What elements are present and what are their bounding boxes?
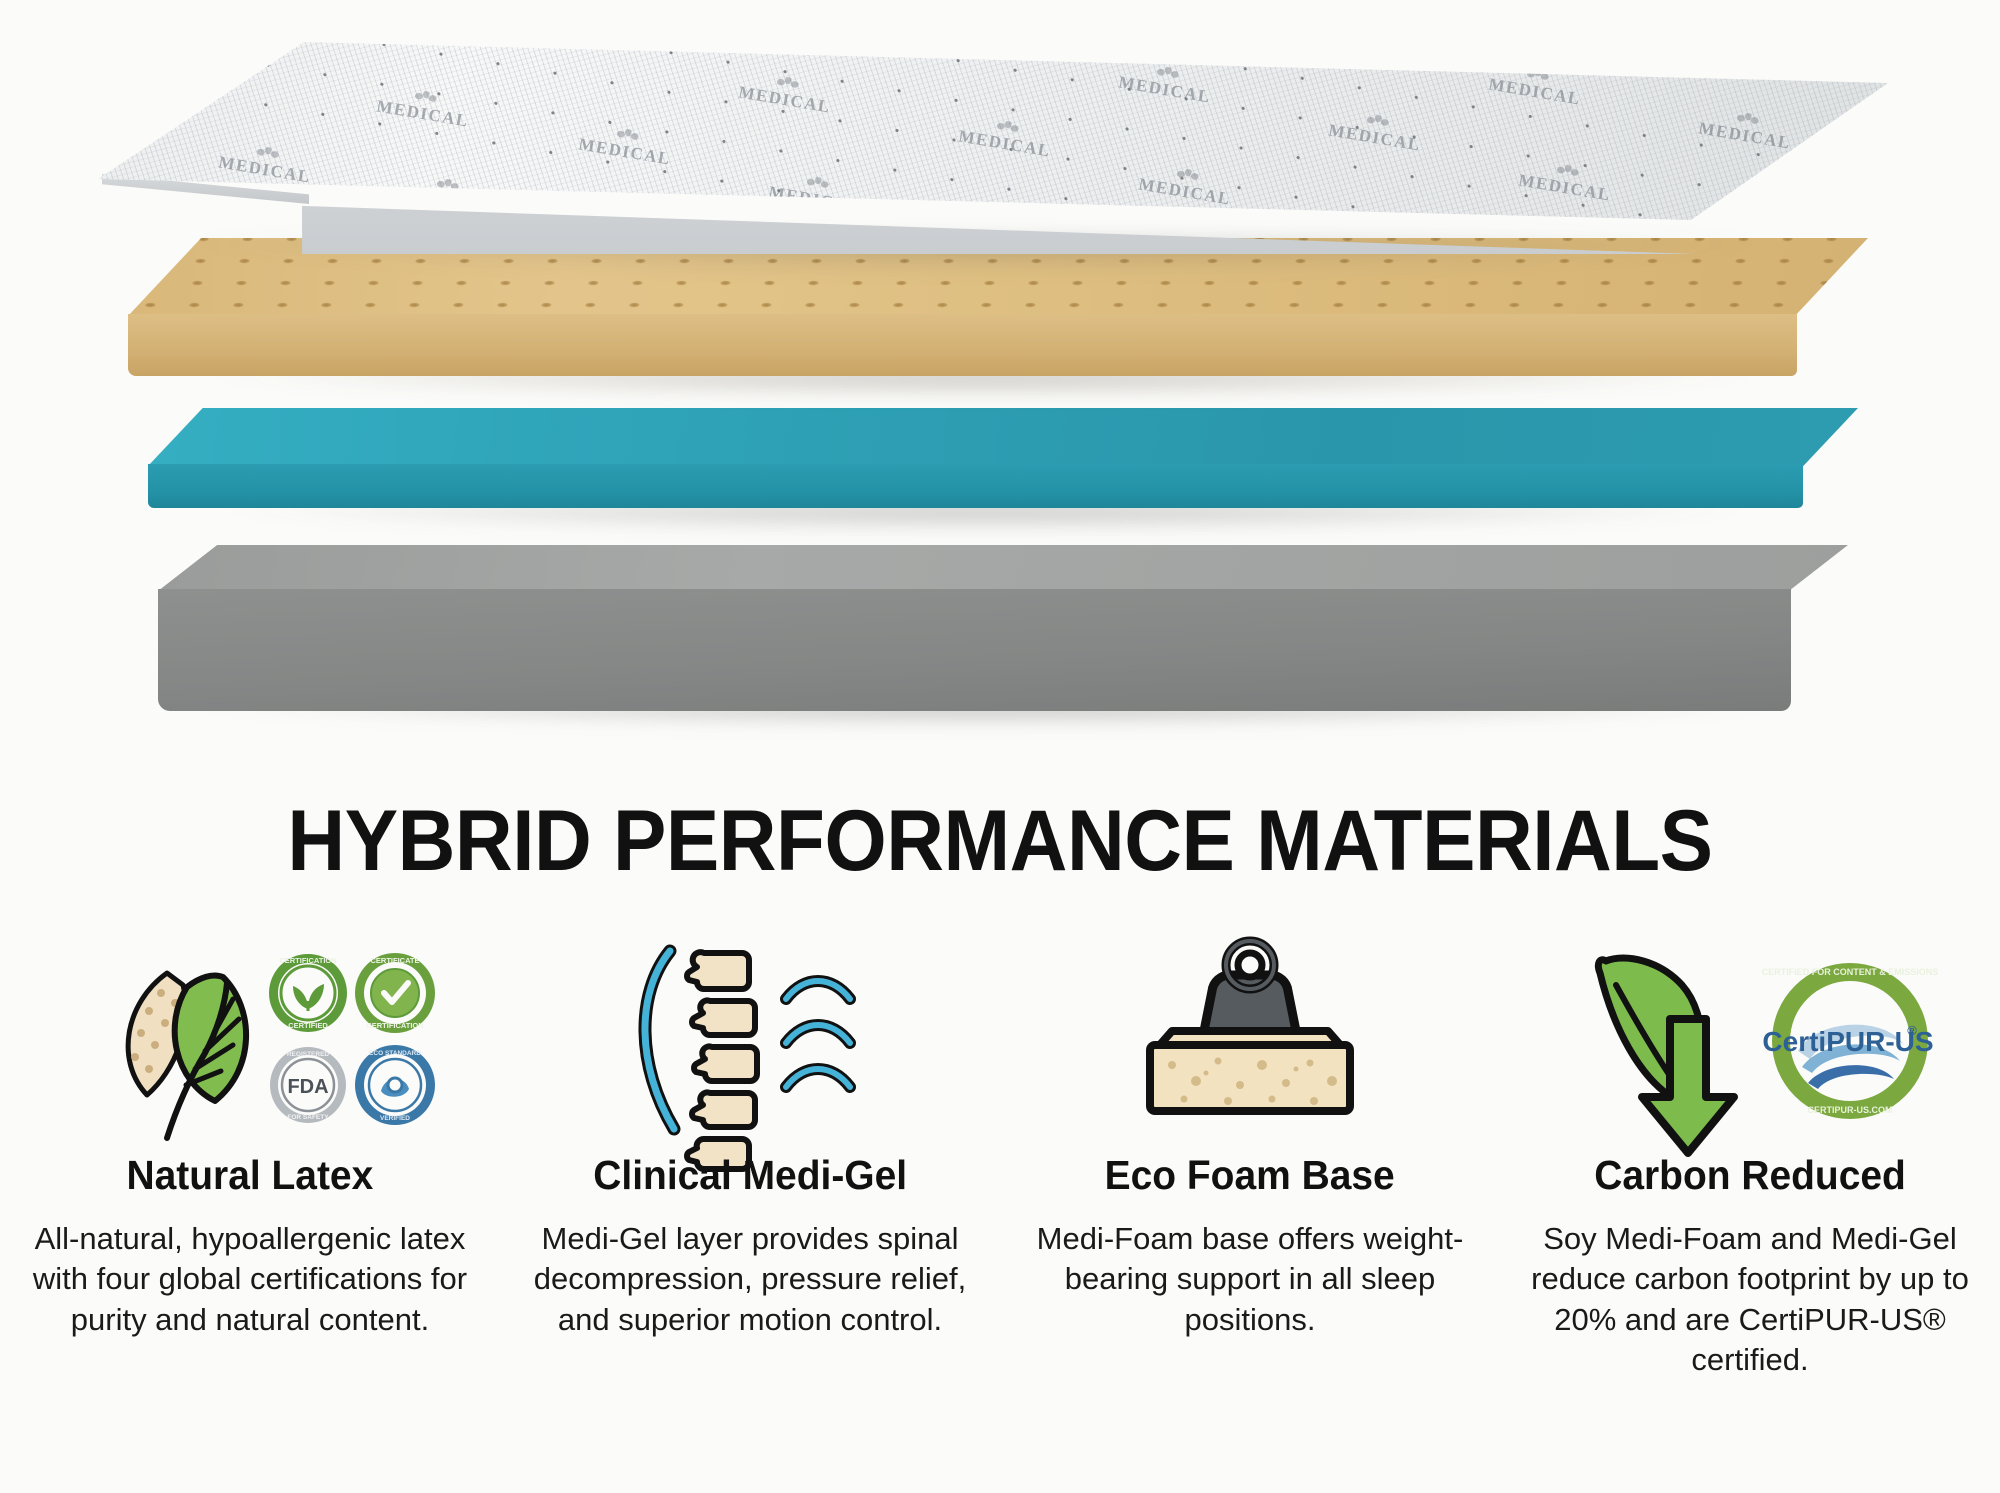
feature-natural-latex: CERTIFICATION CERTIFIED CERTIFICATE CERT… — [0, 930, 500, 1450]
foam-base-top-face — [158, 545, 1848, 591]
cover-wordmark: MEDICAL — [577, 134, 672, 169]
feature-title: Clinical Medi-Gel — [593, 1152, 907, 1199]
cover-wordmark: MEDICAL — [1697, 118, 1792, 153]
exploded-mattress-diagram: MEDICAL MEDICAL MEDICAL MEDICAL MEDICAL … — [0, 0, 2000, 760]
gel-layer-top-face — [148, 408, 1858, 466]
spine-decompression-icon — [500, 930, 1000, 1150]
feature-description: Medi-Gel layer provides spinal decompres… — [515, 1219, 985, 1340]
mattress-layer-eco-foam-base — [158, 545, 1848, 725]
svg-text:REGISTERED: REGISTERED — [287, 1051, 330, 1058]
cover-wordmark: MEDICAL — [1117, 72, 1212, 107]
svg-text:FDA: FDA — [287, 1076, 328, 1098]
svg-text:ECO STANDARD: ECO STANDARD — [369, 1050, 421, 1057]
mattress-layer-medi-gel — [148, 408, 1858, 548]
foam-base-front-face — [158, 589, 1791, 711]
badge-blue-certification: ECO STANDARD VERIFIED — [355, 1045, 435, 1125]
feature-carbon-reduced: CertiPUR-US ® CERTIFIED FOR CONTENT & EM… — [1500, 930, 2000, 1450]
cover-wordmark: MEDICAL — [375, 96, 470, 131]
feature-eco-foam-base: Eco Foam Base Medi-Foam base offers weig… — [1000, 930, 1500, 1450]
cover-wordmark: MEDICAL — [1327, 120, 1422, 155]
cover-wordmark: MEDICAL — [957, 126, 1052, 161]
certipur-us-badge: CertiPUR-US ® CERTIFIED FOR CONTENT & EM… — [1762, 963, 1939, 1119]
weight-on-foam-icon — [1000, 930, 1500, 1150]
badge-certification-leaf: CERTIFICATION CERTIFIED — [269, 954, 347, 1032]
svg-text:CERTIFICATION: CERTIFICATION — [279, 956, 336, 965]
leaf-certifications-icon: CERTIFICATION CERTIFIED CERTIFICATE CERT… — [0, 930, 500, 1150]
feature-title: Eco Foam Base — [1105, 1152, 1395, 1199]
feature-description: Soy Medi-Foam and Medi-Gel reduce carbon… — [1515, 1219, 1985, 1380]
cover-wordmark: MEDICAL — [1517, 170, 1612, 205]
feature-columns: CERTIFICATION CERTIFIED CERTIFICATE CERT… — [0, 930, 2000, 1450]
svg-text:CERTIFIED: CERTIFIED — [288, 1021, 328, 1030]
gel-layer-front-face — [148, 464, 1803, 508]
feature-description: Medi-Foam base offers weight-bearing sup… — [1015, 1219, 1485, 1340]
gel-layer-shadow — [199, 504, 1772, 534]
certipur-registered-mark: ® — [1907, 1023, 1917, 1038]
feature-title: Natural Latex — [127, 1152, 374, 1199]
mattress-layer-quilted-cover: MEDICAL MEDICAL MEDICAL MEDICAL MEDICAL … — [98, 42, 1888, 262]
svg-text:CERTIFICATE: CERTIFICATE — [370, 956, 419, 965]
feature-description: All-natural, hypoallergenic latex with f… — [15, 1219, 485, 1340]
svg-text:CERTIFICATION: CERTIFICATION — [366, 1021, 423, 1030]
feature-title: Carbon Reduced — [1594, 1152, 1906, 1199]
svg-text:CERTIPUR-US.COM: CERTIPUR-US.COM — [1808, 1105, 1893, 1115]
cover-wordmark: MEDICAL — [737, 82, 832, 117]
latex-layer-front-face — [128, 314, 1797, 376]
feature-clinical-medi-gel: Clinical Medi-Gel Medi-Gel layer provide… — [500, 930, 1000, 1450]
leaf-arrow-certipur-icon: CertiPUR-US ® CERTIFIED FOR CONTENT & EM… — [1500, 930, 2000, 1150]
svg-text:CERTIFIED FOR CONTENT & EMISSI: CERTIFIED FOR CONTENT & EMISSIONS — [1762, 967, 1939, 977]
page-title: HYBRID PERFORMANCE MATERIALS — [70, 792, 1930, 891]
cover-wordmark-group: MEDICAL MEDICAL MEDICAL MEDICAL MEDICAL … — [98, 42, 1888, 220]
cover-wordmark: MEDICAL — [767, 182, 862, 217]
cover-wordmark: MEDICAL — [1137, 174, 1232, 209]
cover-wordmark: MEDICAL — [217, 152, 312, 187]
svg-text:VERIFIED: VERIFIED — [380, 1115, 410, 1122]
cover-wordmark: MEDICAL — [1487, 74, 1582, 109]
badge-certification-check: CERTIFICATE CERTIFICATION — [355, 953, 435, 1033]
svg-text:FOR SAFETY: FOR SAFETY — [287, 1114, 329, 1121]
cover-top-face: MEDICAL MEDICAL MEDICAL MEDICAL MEDICAL … — [98, 42, 1888, 220]
badge-fda: FDA REGISTERED FOR SAFETY — [270, 1047, 346, 1123]
